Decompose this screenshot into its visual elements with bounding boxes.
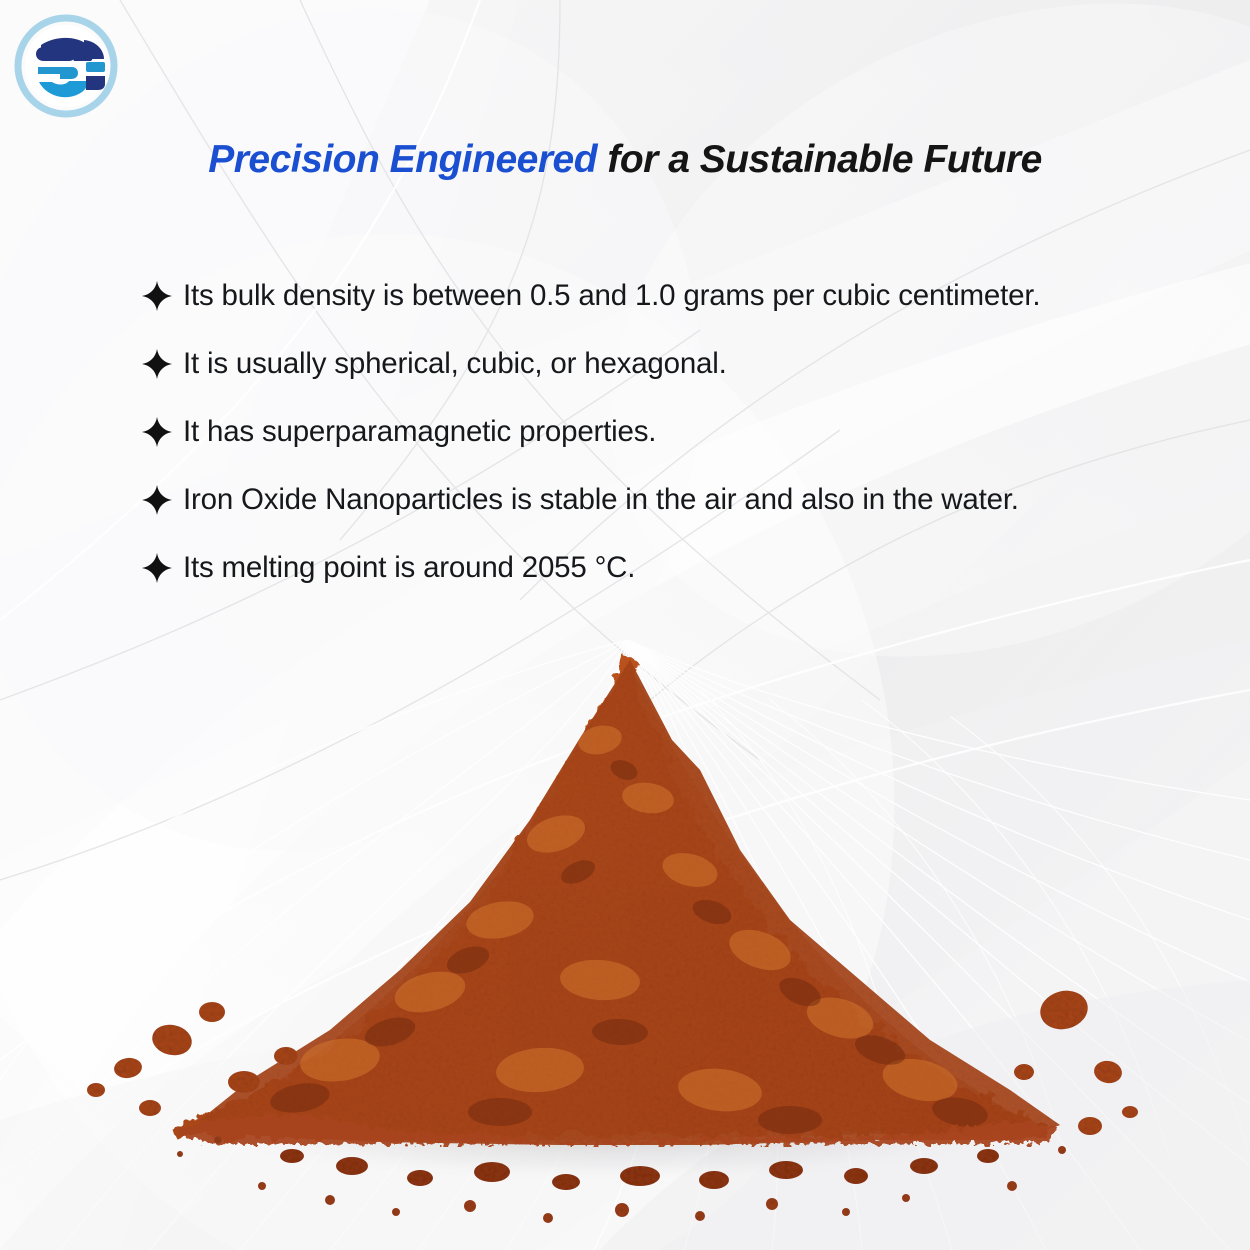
four-point-sparkle-icon	[140, 483, 174, 517]
page-title-rest: for a Sustainable Future	[597, 138, 1042, 181]
pile-body	[176, 654, 1048, 1136]
poster-canvas: Precision Engineered for a Sustainable F…	[0, 0, 1250, 1250]
list-item: It has superparamagnetic properties.	[140, 398, 1200, 466]
list-item-label: It is usually spherical, cubic, or hexag…	[183, 348, 727, 380]
list-item: It is usually spherical, cubic, or hexag…	[140, 330, 1200, 398]
feature-list: Its bulk density is between 0.5 and 1.0 …	[140, 262, 1200, 602]
list-item: Its melting point is around 2055 °C.	[140, 534, 1200, 602]
pile-ground-shadow	[182, 1080, 1042, 1184]
list-item-label: Iron Oxide Nanoparticles is stable in th…	[183, 484, 1019, 516]
page-title: Precision Engineered for a Sustainable F…	[0, 138, 1250, 182]
list-item-label: Its melting point is around 2055 °C.	[183, 552, 635, 584]
list-item-label: It has superparamagnetic properties.	[183, 416, 656, 448]
four-point-sparkle-icon	[140, 279, 174, 313]
list-item-label: Its bulk density is between 0.5 and 1.0 …	[183, 280, 1040, 312]
four-point-sparkle-icon	[140, 415, 174, 449]
pile-spill	[179, 1115, 1057, 1144]
four-point-sparkle-icon	[140, 347, 174, 381]
iron-oxide-powder-pile	[0, 620, 1250, 1250]
pile-texture-clumps	[268, 722, 990, 1134]
brand-logo[interactable]	[14, 14, 118, 118]
pile-scattered-granules	[87, 986, 1138, 1223]
page-title-accent: Precision Engineered	[208, 138, 597, 181]
four-point-sparkle-icon	[140, 551, 174, 585]
background-decoration	[0, 0, 1250, 1250]
list-item: Its bulk density is between 0.5 and 1.0 …	[140, 262, 1200, 330]
list-item: Iron Oxide Nanoparticles is stable in th…	[140, 466, 1200, 534]
